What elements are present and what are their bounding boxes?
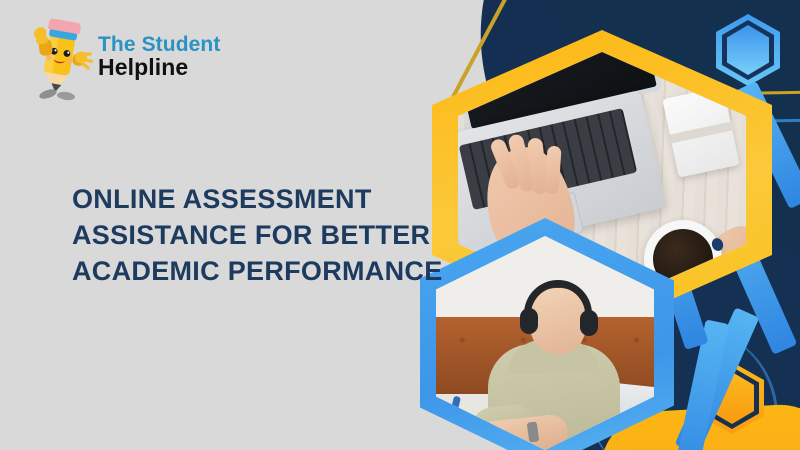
page-title: ONLINE ASSESSMENT ASSISTANCE FOR BETTER … bbox=[72, 182, 452, 290]
artwork-panel bbox=[420, 0, 800, 450]
headline-line-3: ACADEMIC PERFORMANCE bbox=[72, 254, 452, 290]
notebook-band bbox=[668, 121, 734, 144]
headline-line-1: ONLINE ASSESSMENT bbox=[72, 182, 452, 218]
promotional-banner: The Student Helpline ONLINE ASSESSMENT A… bbox=[0, 0, 800, 450]
logo-line-2: Helpline bbox=[98, 56, 220, 79]
headphone-earcup-left bbox=[520, 308, 538, 334]
logo-line-1: The Student bbox=[98, 34, 220, 55]
headphone-earcup-right bbox=[580, 310, 598, 336]
headline-line-2: ASSISTANCE FOR BETTER bbox=[72, 218, 452, 254]
student-photo bbox=[436, 236, 654, 450]
blue-gradient-hexagon-icon bbox=[716, 14, 780, 86]
logo-wordmark: The Student Helpline bbox=[98, 34, 220, 83]
the-student-helpline-logo[interactable]: The Student Helpline bbox=[22, 12, 222, 104]
pencil-mascot-thumbs-up-icon bbox=[22, 14, 94, 102]
